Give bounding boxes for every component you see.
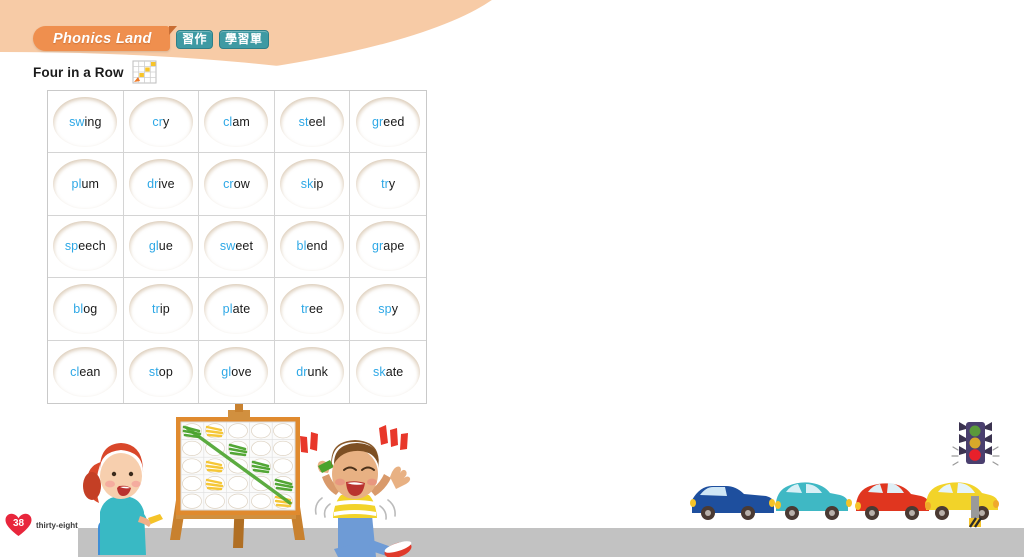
- word-oval: trip: [129, 284, 193, 334]
- word-rest: eel: [309, 115, 326, 129]
- word-rest: ing: [85, 115, 102, 129]
- word-rest: y: [392, 302, 398, 316]
- grid-cell[interactable]: spy: [350, 278, 426, 340]
- word-oval: sweet: [204, 221, 268, 271]
- word-label: plum: [72, 177, 100, 191]
- grid-cell[interactable]: steel: [275, 91, 351, 153]
- word-label: drunk: [296, 365, 328, 379]
- page-root: Phonics Land 習作 學習單 Four in a Row swingc…: [0, 0, 1024, 557]
- word-oval: drive: [129, 159, 193, 209]
- word-label: crow: [223, 177, 250, 191]
- four-in-a-row-grid: swingcryclamsteelgreedplumdrivecrowskipt…: [47, 90, 427, 404]
- word-label: tree: [301, 302, 323, 316]
- word-blend: sp: [378, 302, 391, 316]
- word-rest: um: [81, 177, 99, 191]
- grid-cell[interactable]: grape: [350, 216, 426, 278]
- grid-cell[interactable]: plum: [48, 153, 124, 215]
- word-blend: tr: [152, 302, 160, 316]
- word-rest: unk: [308, 365, 328, 379]
- word-oval: plate: [204, 284, 268, 334]
- word-oval: clam: [204, 97, 268, 147]
- grid-cell[interactable]: swing: [48, 91, 124, 153]
- grid-cell[interactable]: trip: [124, 278, 200, 340]
- grid-cell[interactable]: plate: [199, 278, 275, 340]
- word-label: glue: [149, 239, 173, 253]
- illustration-scene: [0, 400, 1024, 557]
- word-label: skip: [301, 177, 324, 191]
- worksheet-badge[interactable]: 學習單: [219, 30, 269, 49]
- word-label: grape: [372, 239, 404, 253]
- word-blend: cl: [223, 115, 232, 129]
- word-oval: spy: [356, 284, 420, 334]
- word-blend: dr: [147, 177, 158, 191]
- word-label: greed: [372, 115, 404, 129]
- word-label: skate: [373, 365, 403, 379]
- page-number: 38: [5, 513, 32, 537]
- grid-cell[interactable]: drunk: [275, 341, 351, 403]
- grid-cell[interactable]: blend: [275, 216, 351, 278]
- word-oval: speech: [53, 221, 117, 271]
- word-blend: bl: [73, 302, 83, 316]
- grid-cell[interactable]: tree: [275, 278, 351, 340]
- word-oval: crow: [204, 159, 268, 209]
- word-oval: blend: [280, 221, 344, 271]
- word-blend: tr: [301, 302, 309, 316]
- word-label: spy: [378, 302, 398, 316]
- badge-group: 習作 學習單: [176, 30, 269, 49]
- word-blend: gl: [221, 365, 231, 379]
- word-label: steel: [299, 115, 326, 129]
- word-rest: op: [159, 365, 173, 379]
- grid-game-icon: [131, 60, 158, 85]
- word-oval: glove: [204, 347, 268, 397]
- page-number-word: thirty-eight: [36, 521, 78, 530]
- phonics-land-ribbon: Phonics Land: [33, 26, 170, 51]
- word-rest: am: [232, 115, 250, 129]
- grid-cell[interactable]: clam: [199, 91, 275, 153]
- word-label: glove: [221, 365, 251, 379]
- word-blend: dr: [296, 365, 307, 379]
- word-oval: try: [356, 159, 420, 209]
- phonics-land-label: Phonics Land: [53, 31, 152, 47]
- grid-cell[interactable]: sweet: [199, 216, 275, 278]
- word-rest: ate: [386, 365, 404, 379]
- easel-with-game-board: [170, 404, 305, 548]
- word-label: try: [381, 177, 395, 191]
- word-oval: steel: [280, 97, 344, 147]
- word-label: plate: [223, 302, 251, 316]
- word-label: clean: [70, 365, 100, 379]
- grid-cell[interactable]: drive: [124, 153, 200, 215]
- girl-with-marker: [83, 443, 163, 555]
- word-blend: sw: [69, 115, 84, 129]
- word-rest: ean: [79, 365, 100, 379]
- word-blend: sk: [373, 365, 386, 379]
- word-blend: cl: [70, 365, 79, 379]
- word-rest: ip: [160, 302, 170, 316]
- word-blend: tr: [381, 177, 389, 191]
- word-rest: end: [306, 239, 327, 253]
- word-rest: ee: [309, 302, 323, 316]
- word-rest: ive: [158, 177, 174, 191]
- word-oval: cry: [129, 97, 193, 147]
- word-rest: ip: [313, 177, 323, 191]
- word-label: blend: [297, 239, 328, 253]
- word-oval: tree: [280, 284, 344, 334]
- word-rest: ate: [233, 302, 251, 316]
- word-oval: greed: [356, 97, 420, 147]
- car-yellow: [925, 482, 999, 520]
- word-oval: blog: [53, 284, 117, 334]
- word-blend: gl: [149, 239, 159, 253]
- word-rest: eech: [78, 239, 106, 253]
- word-label: stop: [149, 365, 173, 379]
- word-blend: pl: [223, 302, 233, 316]
- grid-cell[interactable]: speech: [48, 216, 124, 278]
- word-blend: sw: [220, 239, 235, 253]
- section-header: Four in a Row: [33, 60, 158, 85]
- word-oval: grape: [356, 221, 420, 271]
- grid-cell[interactable]: glove: [199, 341, 275, 403]
- section-title: Four in a Row: [33, 65, 124, 80]
- word-rest: og: [83, 302, 97, 316]
- page-number-badge: 38 thirty-eight: [5, 513, 78, 537]
- word-rest: eed: [383, 115, 404, 129]
- grid-cell[interactable]: blog: [48, 278, 124, 340]
- heart-icon: 38: [5, 513, 32, 537]
- word-blend: cr: [223, 177, 234, 191]
- word-rest: ove: [231, 365, 251, 379]
- word-blend: gr: [372, 115, 383, 129]
- word-rest: eet: [235, 239, 253, 253]
- word-blend: st: [299, 115, 309, 129]
- grid-cell[interactable]: stop: [124, 341, 200, 403]
- word-label: trip: [152, 302, 170, 316]
- grid-cell[interactable]: try: [350, 153, 426, 215]
- word-oval: skate: [356, 347, 420, 397]
- word-rest: ape: [383, 239, 404, 253]
- word-label: clam: [223, 115, 250, 129]
- grid-cell[interactable]: clean: [48, 341, 124, 403]
- word-label: sweet: [220, 239, 253, 253]
- grid-cell[interactable]: glue: [124, 216, 200, 278]
- workbook-badge[interactable]: 習作: [176, 30, 213, 49]
- word-blend: st: [149, 365, 159, 379]
- word-blend: sk: [301, 177, 314, 191]
- word-rest: y: [163, 115, 169, 129]
- word-label: drive: [147, 177, 175, 191]
- grid-cell[interactable]: skate: [350, 341, 426, 403]
- car-blue: [690, 486, 775, 520]
- word-blend: sp: [65, 239, 78, 253]
- word-label: speech: [65, 239, 106, 253]
- word-rest: y: [389, 177, 395, 191]
- word-blend: gr: [372, 239, 383, 253]
- word-oval: glue: [129, 221, 193, 271]
- word-oval: drunk: [280, 347, 344, 397]
- scene-graphics: [0, 400, 1024, 557]
- word-blend: pl: [72, 177, 82, 191]
- word-oval: swing: [53, 97, 117, 147]
- grid-cell[interactable]: greed: [350, 91, 426, 153]
- grid-cell[interactable]: skip: [275, 153, 351, 215]
- traffic-light: [952, 422, 999, 527]
- word-oval: skip: [280, 159, 344, 209]
- word-label: swing: [69, 115, 101, 129]
- grid-cell[interactable]: cry: [124, 91, 200, 153]
- word-oval: clean: [53, 347, 117, 397]
- word-blend: bl: [297, 239, 307, 253]
- word-blend: cr: [152, 115, 163, 129]
- word-label: blog: [73, 302, 97, 316]
- word-oval: plum: [53, 159, 117, 209]
- word-rest: ow: [234, 177, 250, 191]
- word-label: cry: [152, 115, 169, 129]
- grid-cell[interactable]: crow: [199, 153, 275, 215]
- car-red: [855, 483, 931, 520]
- word-oval: stop: [129, 347, 193, 397]
- word-rest: ue: [159, 239, 173, 253]
- cheering-boy: [300, 425, 413, 557]
- car-teal: [775, 482, 852, 520]
